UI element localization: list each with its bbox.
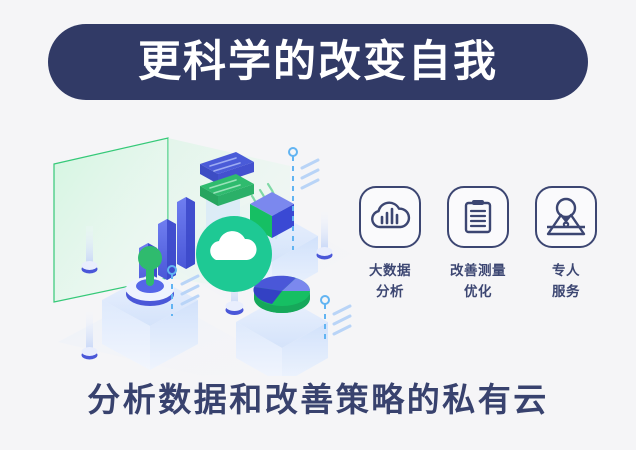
footer-tagline: 分析数据和改善策略的私有云 (0, 383, 636, 416)
clipboard-icon (447, 186, 509, 248)
header-banner: 更科学的改变自我 (48, 24, 588, 100)
hero-illustration (40, 126, 360, 376)
floor-pin-right (317, 212, 333, 260)
feature-list: 大数据 分析 改善测量 优化 (352, 186, 604, 303)
feature-label: 大数据 分析 (369, 261, 411, 303)
feature-label: 专人 服务 (552, 261, 580, 303)
pie-chart (253, 276, 310, 313)
feature-big-data-analysis[interactable]: 大数据 分析 (352, 186, 428, 303)
support-agent-icon (535, 186, 597, 248)
poster-root: 更科学的改变自我 (0, 0, 636, 450)
page-title: 更科学的改变自我 (138, 41, 498, 84)
feature-dedicated-service[interactable]: 专人 服务 (528, 186, 604, 303)
cloud-chart-icon (359, 186, 421, 248)
feature-label: 改善测量 优化 (450, 261, 506, 303)
feature-improvement-measure[interactable]: 改善测量 优化 (440, 186, 516, 303)
